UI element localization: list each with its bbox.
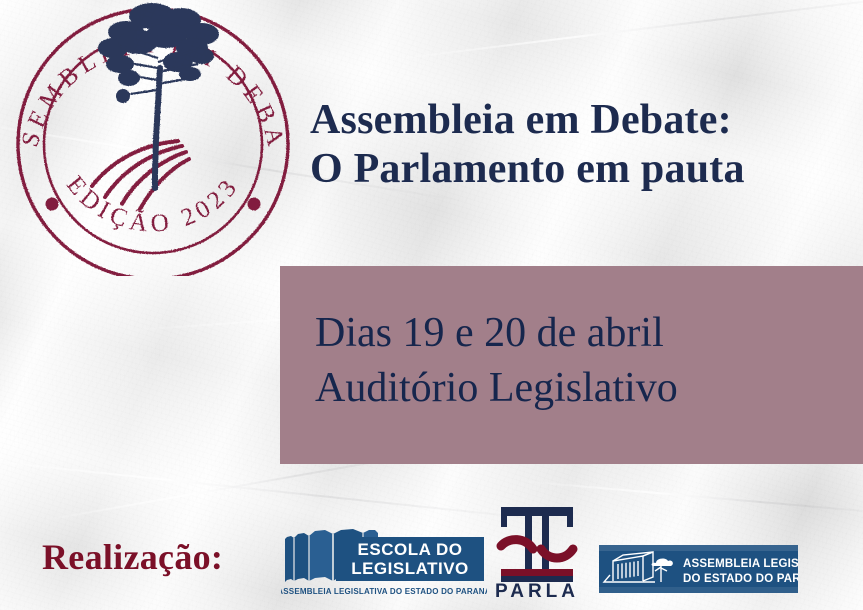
escola-line-1: ESCOLA DO: [358, 540, 463, 559]
title-line-1: Assembleia em Debate:: [310, 96, 745, 145]
realizacao-label: Realização:: [42, 536, 223, 578]
assembleia-em-debate-stamp: ASSEMBLEIA EM DEBATE EDIÇÃO 2023: [6, 0, 296, 276]
escola-line-2: LEGISLATIVO: [351, 559, 469, 578]
event-dates: Dias 19 e 20 de abril: [315, 306, 678, 361]
stamp-dot: [46, 198, 59, 211]
stamp-tree-trunk: [155, 68, 160, 188]
paper-crease: [380, 0, 863, 62]
event-details-box: Dias 19 e 20 de abril Auditório Legislat…: [280, 266, 863, 464]
event-venue: Auditório Legislativo: [315, 361, 678, 416]
alep-line-2: DO ESTADO DO PARANÁ: [683, 572, 798, 585]
logo-parla: PARLA: [487, 499, 587, 600]
parla-wordmark: PARLA: [495, 581, 579, 600]
poster-title: Assembleia em Debate: O Parlamento em pa…: [310, 96, 745, 193]
event-poster: ASSEMBLEIA EM DEBATE EDIÇÃO 2023: [0, 0, 863, 610]
title-line-2: O Parlamento em pauta: [310, 145, 745, 194]
event-details-text: Dias 19 e 20 de abril Auditório Legislat…: [315, 306, 678, 415]
logo-escola-do-legislativo: ESCOLA DO LEGISLATIVO ASSEMBLEIA LEGISLA…: [281, 519, 487, 600]
stamp-dot: [248, 198, 261, 211]
logo-assembleia-legislativa-parana: ASSEMBLEIA LEGISLATIVA DO ESTADO DO PARA…: [599, 545, 798, 593]
escola-caption: ASSEMBLEIA LEGISLATIVA DO ESTADO DO PARA…: [281, 587, 487, 596]
alep-line-1: ASSEMBLEIA LEGISLATIVA: [683, 558, 798, 570]
parla-column-monogram-icon: [501, 507, 573, 582]
